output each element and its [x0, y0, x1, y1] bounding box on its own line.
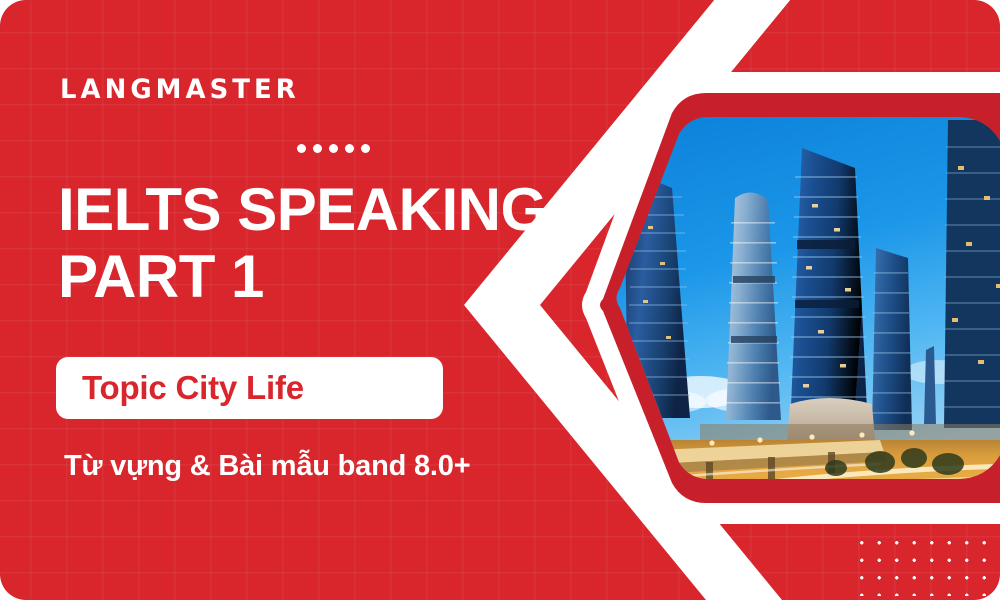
- dot: [329, 144, 338, 153]
- subtitle: Từ vựng & Bài mẫu band 8.0+: [64, 450, 470, 483]
- dot: [313, 144, 322, 153]
- dot: [361, 144, 370, 153]
- banner-canvas: LANGMASTER IELTS SPEAKING PART 1 Topic C…: [0, 0, 1000, 600]
- decorative-dots: [297, 144, 370, 153]
- topic-badge: Topic City Life: [56, 357, 443, 419]
- brand-logo: LANGMASTER: [60, 74, 300, 105]
- topic-badge-label: Topic City Life: [82, 369, 304, 407]
- dot: [297, 144, 306, 153]
- red-background-panel: LANGMASTER IELTS SPEAKING PART 1 Topic C…: [0, 0, 1000, 600]
- page-title: IELTS SPEAKING PART 1: [58, 176, 547, 310]
- dot: [345, 144, 354, 153]
- dot-matrix-pattern: [853, 534, 1000, 596]
